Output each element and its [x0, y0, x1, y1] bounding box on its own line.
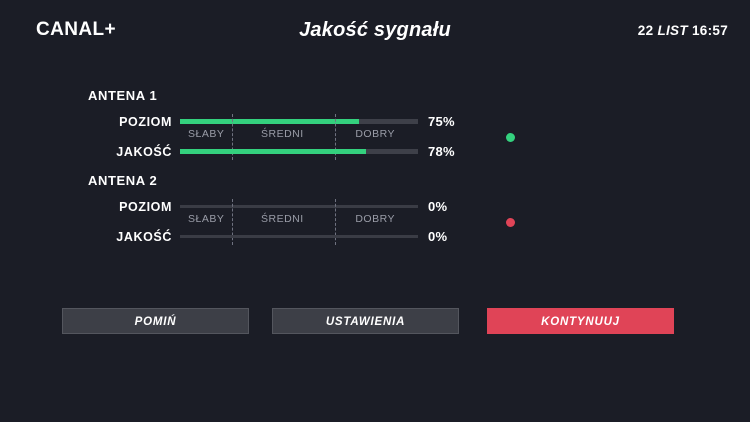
metric-label: POZIOM	[40, 200, 172, 214]
scale-label-row: SŁABY ŚREDNI DOBRY	[180, 128, 418, 144]
clock-datetime: 22 LIST 16:57	[638, 23, 728, 38]
scale-label-weak: SŁABY	[188, 213, 224, 225]
header-bar: CANAL+ Jakość sygnału 22 LIST 16:57	[0, 0, 750, 62]
metric-value: 0%	[428, 199, 447, 214]
metric-value: 0%	[428, 229, 447, 244]
metric-label: JAKOŚĆ	[40, 230, 172, 244]
skip-button[interactable]: POMIŃ	[62, 308, 249, 334]
antenna-title: ANTENA 1	[88, 88, 157, 103]
metric-label: POZIOM	[40, 115, 172, 129]
clock-day: 22	[638, 23, 654, 38]
clock-month: LIST	[657, 23, 687, 38]
scale-label-good: DOBRY	[355, 128, 395, 140]
scale-label-medium: ŚREDNI	[261, 128, 304, 140]
scale-label-row: SŁABY ŚREDNI DOBRY	[180, 213, 418, 229]
antenna-title: ANTENA 2	[88, 173, 157, 188]
metric-label: JAKOŚĆ	[40, 145, 172, 159]
footer-actions: POMIŃ USTAWIENIA KONTYNUUJ	[0, 308, 750, 336]
scale-label-good: DOBRY	[355, 213, 395, 225]
quality-bar-track	[180, 235, 418, 238]
settings-button[interactable]: USTAWIENIA	[272, 308, 459, 334]
status-dot-good	[506, 133, 515, 142]
quality-bar-track	[180, 149, 418, 154]
signal-quality-screen: CANAL+ Jakość sygnału 22 LIST 16:57 ANTE…	[0, 0, 750, 422]
metric-row-quality: JAKOŚĆ 78%	[0, 144, 750, 160]
scale-label-medium: ŚREDNI	[261, 213, 304, 225]
metric-value: 78%	[428, 144, 455, 159]
metric-value: 75%	[428, 114, 455, 129]
scale-label-weak: SŁABY	[188, 128, 224, 140]
quality-bar-fill	[180, 149, 366, 154]
metric-row-quality: JAKOŚĆ 0%	[0, 229, 750, 245]
continue-button[interactable]: KONTYNUUJ	[487, 308, 674, 334]
clock-time: 16:57	[692, 23, 728, 38]
status-dot-bad	[506, 218, 515, 227]
